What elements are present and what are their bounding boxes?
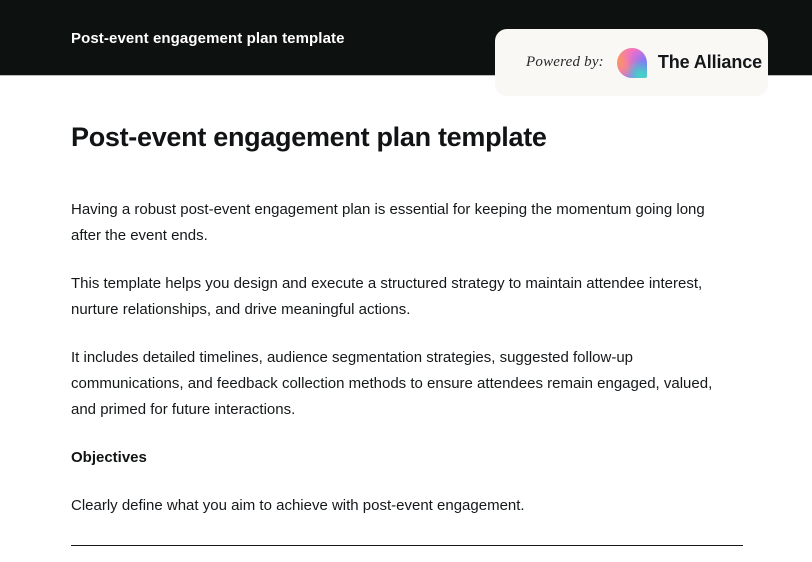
section-description: Clearly define what you aim to achieve w… [71, 471, 736, 519]
powered-by-badge[interactable]: Powered by: The Alliance [495, 29, 768, 96]
brand-name-label: The Alliance [658, 52, 762, 73]
document-content: Post-event engagement plan template Havi… [71, 76, 743, 562]
powered-by-label: Powered by: [526, 54, 604, 71]
intro-paragraph-3: It includes detailed timelines, audience… [71, 323, 736, 423]
section-heading-objectives: Objectives [71, 423, 743, 471]
table-cell-value[interactable]: [e.g., Strengthen relationships, drive c… [264, 546, 743, 562]
intro-paragraph-2: This template helps you design and execu… [71, 249, 736, 323]
table-cell-key: Primary objective [71, 546, 264, 562]
alliance-gradient-circle-icon [617, 48, 647, 78]
intro-paragraph-1: Having a robust post-event engagement pl… [71, 153, 736, 249]
table-row: Primary objective [e.g., Strengthen rela… [71, 546, 743, 562]
header-document-title: Post-event engagement plan template [71, 30, 345, 47]
objectives-table: Primary objective [e.g., Strengthen rela… [71, 545, 743, 562]
document-page: Post-event engagement plan template Powe… [0, 0, 812, 562]
